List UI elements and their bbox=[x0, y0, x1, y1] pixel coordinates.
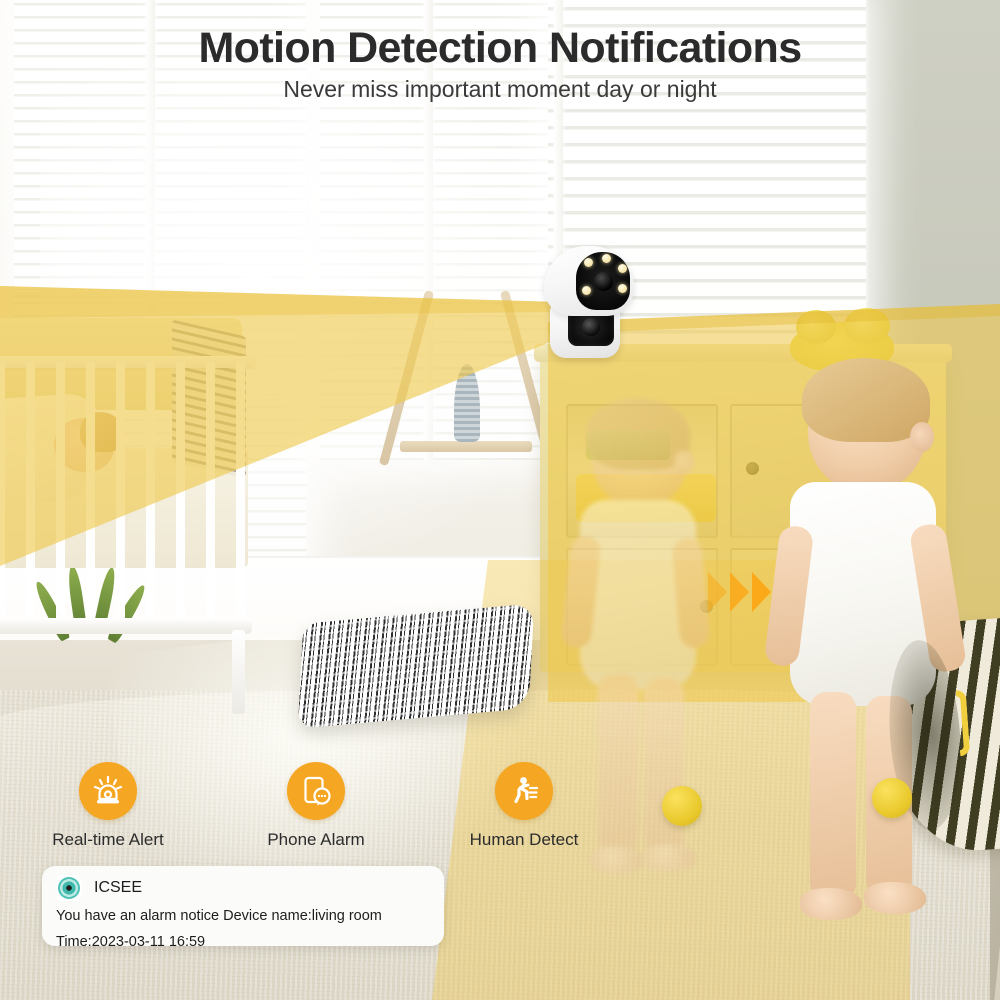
feature-label: Human Detect bbox=[456, 830, 592, 850]
notification-app-name: ICSEE bbox=[94, 879, 142, 897]
siren-icon bbox=[79, 762, 137, 820]
feature-phone-alarm: Phone Alarm bbox=[248, 762, 384, 850]
camera-upper-lens-panel bbox=[576, 252, 630, 310]
yellow-ball bbox=[662, 786, 702, 826]
feature-label: Real-time Alert bbox=[40, 830, 176, 850]
chevron-icon bbox=[708, 572, 727, 612]
toddler-foot bbox=[800, 888, 862, 920]
security-camera bbox=[542, 246, 642, 358]
camera-upper-lens bbox=[594, 272, 613, 291]
crib bbox=[0, 300, 276, 690]
stacking-toy bbox=[454, 364, 480, 442]
crib-base bbox=[0, 618, 252, 634]
camera-led bbox=[618, 264, 627, 273]
page-title: Motion Detection Notifications bbox=[0, 24, 1000, 73]
page-subtitle: Never miss important moment day or night bbox=[0, 76, 1000, 103]
feature-label: Phone Alarm bbox=[248, 830, 384, 850]
dresser-knob[interactable] bbox=[746, 462, 759, 475]
camera-led bbox=[618, 284, 627, 293]
crib-bars bbox=[0, 362, 256, 624]
notification-time: Time:2023-03-11 16:59 bbox=[56, 932, 430, 953]
running-person-icon bbox=[495, 762, 553, 820]
feature-human-detect: Human Detect bbox=[456, 762, 592, 850]
window-mullion bbox=[14, 290, 306, 298]
camera-pan-tilt-head bbox=[544, 246, 634, 316]
feature-list: Real-time Alert Phone Alarm bbox=[40, 762, 592, 850]
camera-led bbox=[582, 286, 591, 295]
teepee-shelf-board bbox=[400, 441, 532, 452]
chevron-icon bbox=[730, 572, 749, 612]
yellow-ball bbox=[872, 778, 912, 818]
icsee-eye-icon bbox=[56, 875, 82, 901]
toddler-ear bbox=[910, 422, 934, 452]
chevron-floor-cushion bbox=[298, 603, 535, 728]
walking-toddler bbox=[770, 366, 970, 926]
notification-card[interactable]: ICSEE You have an alarm notice Device na… bbox=[42, 866, 444, 946]
camera-led bbox=[602, 254, 611, 263]
toddler-foot bbox=[864, 882, 926, 914]
notification-message: You have an alarm notice Device name:liv… bbox=[56, 906, 430, 927]
feature-real-time-alert: Real-time Alert bbox=[40, 762, 176, 850]
phone-message-icon bbox=[287, 762, 345, 820]
camera-led bbox=[584, 258, 593, 267]
product-marketing-image: Motion Detection Notifications Never mis… bbox=[0, 0, 1000, 1000]
toddler-leg bbox=[810, 692, 856, 900]
crib-leg bbox=[232, 630, 245, 714]
teepee-shelf bbox=[392, 288, 542, 468]
chevron-icon bbox=[752, 572, 771, 612]
notification-header: ICSEE bbox=[56, 875, 430, 901]
motion-direction-arrows bbox=[708, 572, 771, 612]
